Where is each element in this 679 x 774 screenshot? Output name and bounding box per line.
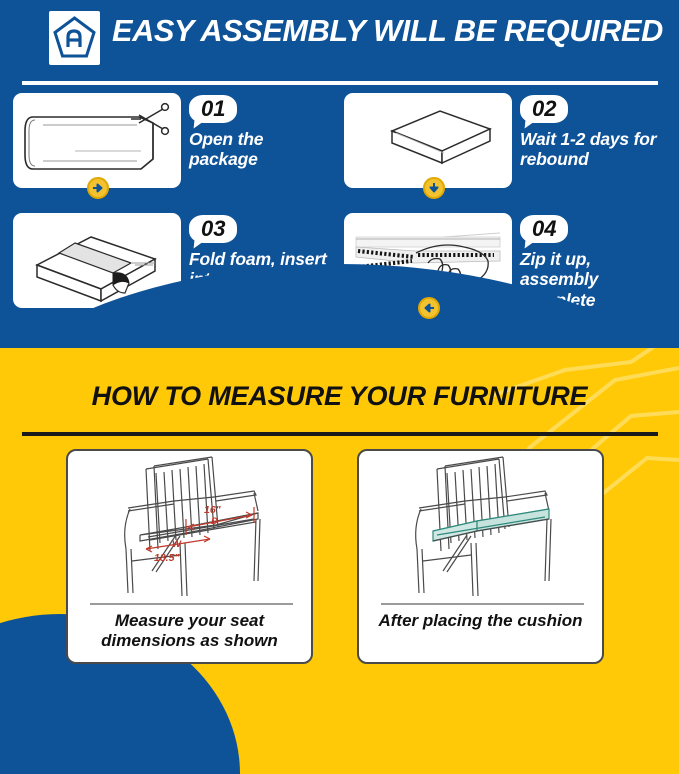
step-01-label: Open the package — [189, 129, 339, 170]
measure-panel-dimensions[interactable]: 16" D W 18.5" Measure your seat dimensio… — [66, 449, 313, 664]
step-01-text: 01 Open the package — [189, 95, 339, 170]
step-01-arrow-badge — [87, 177, 109, 199]
step-01-label-line-2: package — [189, 149, 339, 169]
step-03-number: 03 — [189, 215, 237, 243]
measure-right-caption-line-1: After placing the cushion — [365, 611, 596, 631]
chair-with-seat-dimensions-icon: 16" D W 18.5" — [68, 451, 311, 601]
dimension-width-value: 18.5" — [154, 552, 180, 564]
step-02-text: 02 Wait 1-2 days for rebound — [520, 95, 670, 170]
measure-left-divider — [90, 603, 293, 605]
header-divider — [22, 81, 658, 85]
measure-left-caption-line-2: dimensions as shown — [74, 631, 305, 651]
step-02-number: 02 — [520, 95, 568, 123]
arrow-down-icon — [428, 182, 440, 194]
step-02-arrow-badge — [423, 177, 445, 199]
step-02-label-line-1: Wait 1-2 days for — [520, 129, 670, 149]
step-card-02[interactable]: 02 Wait 1-2 days for rebound — [344, 93, 664, 193]
step-04-arrow-badge — [418, 297, 440, 319]
step-01-label-line-1: Open the — [189, 129, 339, 149]
flat-foam-slab-icon — [344, 93, 512, 188]
measure-left-caption: Measure your seat dimensions as shown — [68, 611, 311, 652]
dimension-depth-value: 16" — [204, 504, 222, 516]
page-title: EASY ASSEMBLY WILL BE REQUIRED — [112, 13, 663, 49]
measure-right-caption: After placing the cushion — [359, 611, 602, 631]
step-02-label-line-2: rebound — [520, 149, 670, 169]
dimension-width-axis: W — [172, 539, 182, 550]
house-pentagon-logo-icon — [49, 11, 100, 65]
step-02-illustration-card — [344, 93, 512, 188]
rolled-package-with-scissors-icon — [13, 93, 181, 188]
step-02-label: Wait 1-2 days for rebound — [520, 129, 670, 170]
step-04-number: 04 — [520, 215, 568, 243]
measure-left-caption-line-1: Measure your seat — [74, 611, 305, 631]
measure-panel-cushion[interactable]: After placing the cushion — [357, 449, 604, 664]
measure-divider — [22, 432, 658, 436]
measure-section-title: HOW TO MEASURE YOUR FURNITURE — [0, 381, 679, 412]
assembly-section: EASY ASSEMBLY WILL BE REQUIRED — [0, 0, 679, 348]
step-04-label-line-1: Zip it up, assembly — [520, 249, 670, 290]
step-01-number: 01 — [189, 95, 237, 123]
measure-right-divider — [381, 603, 584, 605]
dimension-depth-axis: D — [211, 516, 218, 527]
chair-with-teal-cushion-icon — [359, 451, 602, 601]
step-card-01[interactable]: 01 Open the package — [13, 93, 333, 193]
step-01-illustration-card — [13, 93, 181, 188]
arrow-right-icon — [92, 182, 104, 194]
section-header: EASY ASSEMBLY WILL BE REQUIRED — [0, 0, 679, 78]
arrow-left-icon — [423, 302, 435, 314]
